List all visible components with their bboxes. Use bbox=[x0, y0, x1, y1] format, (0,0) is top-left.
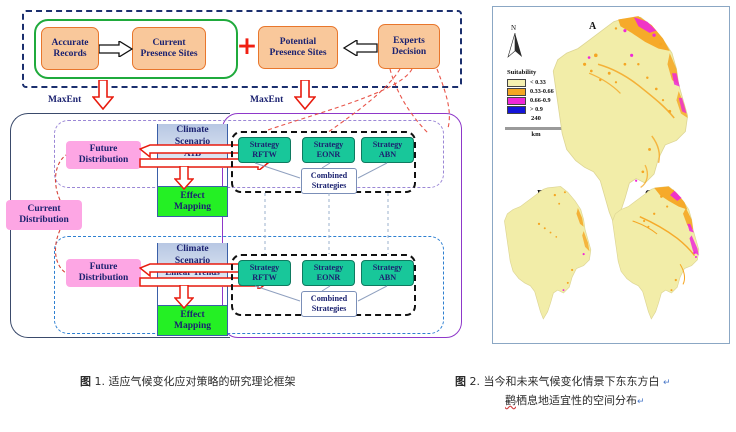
figure-1-framework-diagram: Accurate Records Current Presence Sites … bbox=[0, 0, 480, 358]
box-strategy-abn-bottom[interactable]: Strategy ABN bbox=[361, 260, 414, 286]
strategy-rftw-bottom-label: Strategy RFTW bbox=[250, 263, 280, 283]
box-combined-strategies-top[interactable]: Combined Strategies bbox=[301, 168, 357, 194]
box-strategy-rftw-top[interactable]: Strategy RFTW bbox=[238, 137, 291, 163]
box-future-distribution-bottom-label: Future Distribution bbox=[79, 262, 129, 284]
box-strategy-abn-top[interactable]: Strategy ABN bbox=[361, 137, 414, 163]
box-effect-mapping-top-label: Effect Mapping bbox=[174, 191, 211, 213]
map-canvas bbox=[493, 7, 729, 343]
caption-1-number: 1. bbox=[95, 375, 106, 388]
box-accurate-records-label: Accurate Records bbox=[52, 38, 89, 60]
maxent-label-left: MaxEnt bbox=[48, 95, 81, 105]
figure-2-suitability-maps: A B C N Suitability < 0.33 0.33-0.66 0.6… bbox=[492, 6, 730, 344]
box-future-distribution-top[interactable]: Future Distribution bbox=[66, 141, 141, 169]
arrow-down-icon-maxent-right bbox=[294, 80, 316, 110]
arrow-down-icon-scenario-effect-bottom bbox=[174, 285, 194, 309]
box-experts-decision-label: Experts Decision bbox=[392, 36, 426, 58]
caption-1-prefix: 图 bbox=[80, 375, 91, 388]
box-experts-decision[interactable]: Experts Decision bbox=[378, 24, 440, 69]
box-combined-strategies-bottom[interactable]: Combined Strategies bbox=[301, 291, 357, 317]
caption-2-number: 2. bbox=[470, 375, 481, 388]
box-strategy-rftw-bottom[interactable]: Strategy RFTW bbox=[238, 260, 291, 286]
arrow-down-icon-maxent-left bbox=[92, 80, 114, 110]
box-accurate-records[interactable]: Accurate Records bbox=[41, 27, 99, 70]
caption-2-line1: 当今和未来气候变化情景下东东方白 bbox=[484, 375, 660, 388]
map-panel-b bbox=[504, 186, 590, 318]
box-strategy-eonr-top[interactable]: Strategy EONR bbox=[302, 137, 355, 163]
caption-2-prefix: 图 bbox=[455, 375, 466, 388]
caption-figure-1: 图 1. 适应气候变化应对策略的研究理论框架 bbox=[80, 373, 296, 391]
strategy-abn-bottom-label: Strategy ABN bbox=[373, 263, 403, 283]
strategy-eonr-bottom-label: Strategy EONR bbox=[314, 263, 344, 283]
arrow-down-icon-scenario-effect-top bbox=[174, 166, 194, 190]
caption-2-line2-rest: 栖息地适宜性的空间分布 bbox=[516, 394, 637, 407]
box-potential-presence-sites-label: Potential Presence Sites bbox=[269, 37, 326, 59]
strategy-rftw-top-label: Strategy RFTW bbox=[250, 140, 280, 160]
strategy-abn-top-label: Strategy ABN bbox=[373, 140, 403, 160]
caption-2-pilcrow-1: ↵ bbox=[663, 378, 671, 388]
combined-strategies-bottom-label: Combined Strategies bbox=[311, 294, 347, 314]
box-effect-mapping-bottom[interactable]: Effect Mapping bbox=[157, 305, 228, 336]
box-future-distribution-bottom[interactable]: Future Distribution bbox=[66, 259, 141, 287]
box-current-presence-sites-label: Current Presence Sites bbox=[140, 38, 197, 60]
caption-figure-2: 图 2. 当今和未来气候变化情景下东东方白 ↵ 鹳栖息地适宜性的空间分布↵ bbox=[455, 373, 735, 411]
combined-strategies-top-label: Combined Strategies bbox=[311, 171, 347, 191]
plus-icon: + bbox=[236, 36, 258, 58]
box-strategy-eonr-bottom[interactable]: Strategy EONR bbox=[302, 260, 355, 286]
box-effect-mapping-top[interactable]: Effect Mapping bbox=[157, 186, 228, 217]
arrow-left-icon-experts-to-potential bbox=[338, 40, 378, 56]
caption-2-line2: 鹳栖息地适宜性的空间分布↵ bbox=[505, 392, 735, 411]
box-current-distribution[interactable]: Current Distribution bbox=[6, 200, 82, 230]
strategy-eonr-top-label: Strategy EONR bbox=[314, 140, 344, 160]
maxent-label-right: MaxEnt bbox=[250, 95, 283, 105]
box-effect-mapping-bottom-label: Effect Mapping bbox=[174, 310, 211, 332]
caption-2-pilcrow-2: ↵ bbox=[637, 397, 645, 407]
caption-1-text: 适应气候变化应对策略的研究理论框架 bbox=[109, 375, 296, 388]
box-current-presence-sites[interactable]: Current Presence Sites bbox=[132, 27, 206, 70]
caption-2-line2-wavy: 鹳 bbox=[505, 394, 516, 407]
map-panel-c bbox=[612, 186, 698, 318]
box-future-distribution-top-label: Future Distribution bbox=[79, 144, 129, 166]
box-potential-presence-sites[interactable]: Potential Presence Sites bbox=[258, 26, 338, 69]
box-current-distribution-label: Current Distribution bbox=[19, 204, 69, 226]
arrow-right-icon-accurate-to-current bbox=[99, 41, 133, 57]
